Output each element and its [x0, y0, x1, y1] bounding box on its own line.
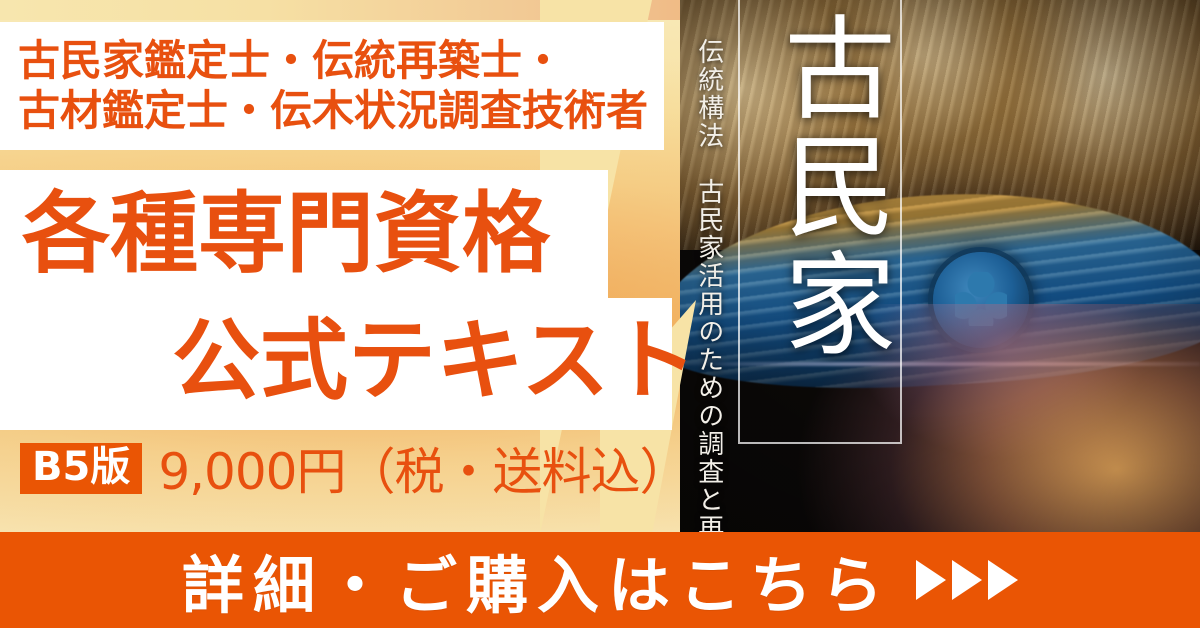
play-arrow-icon [952, 560, 982, 600]
format-badge: B5版 [20, 443, 142, 494]
price-row: B5版 9,000円（税・送料込） [0, 432, 688, 504]
subheadline-panel: 古民家鑑定士・伝統再築士・ 古材鑑定士・伝木状況調査技術者 [0, 22, 664, 150]
subheadline-line-2: 古材鑑定士・伝木状況調査技術者 [0, 86, 664, 150]
book-cover-photo: 古民家 伝統構法 古民家活用のための調査と再生の [680, 0, 1200, 534]
headline-line-1: 各種専門資格 [0, 170, 608, 298]
book-title: 古民家 [742, 10, 894, 364]
headline-panel: 各種専門資格 公式テキスト [0, 170, 672, 430]
book-subtitle: 伝統構法 古民家活用のための調査と再生の [692, 38, 724, 534]
play-arrow-icon [916, 560, 946, 600]
price-text: 9,000円（税・送料込） [158, 432, 688, 504]
promo-banner: 古民家 伝統構法 古民家活用のための調査と再生の 古民家鑑定士・伝統再築士・ 古… [0, 0, 1200, 628]
headline-line-2: 公式テキスト [0, 298, 672, 424]
headline-row-2: 公式テキスト [0, 298, 672, 430]
play-arrow-icon [988, 560, 1018, 600]
cta-label: 詳細・ご購入はこちら [182, 535, 892, 625]
cta-bar[interactable]: 詳細・ご購入はこちら [0, 532, 1200, 628]
cta-arrow-group [910, 560, 1018, 600]
headline-row-1: 各種専門資格 [0, 170, 608, 298]
subheadline-line-1: 古民家鑑定士・伝統再築士・ [0, 22, 664, 86]
